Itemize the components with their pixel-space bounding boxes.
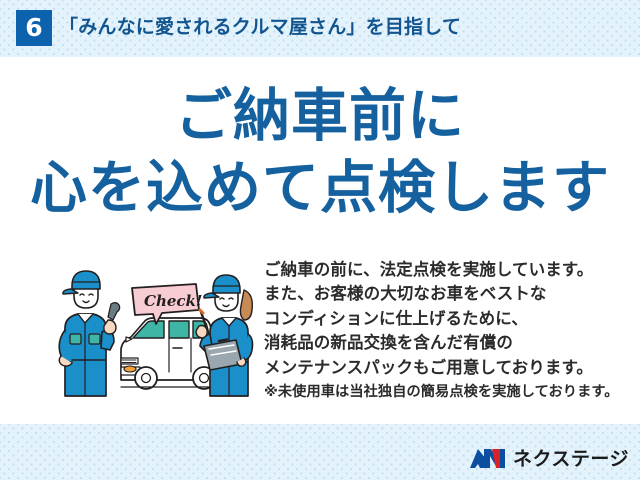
mechanic-male [59, 271, 119, 396]
speech-bubble-label: Check! [144, 292, 203, 310]
body-line-4: 消耗品の新品交換を含んだ有償の [264, 331, 630, 355]
section-number-badge: 6 [16, 10, 52, 46]
body-line-2: また、お客様の大切なお車をベストな [264, 282, 630, 306]
headline-line-1: ご納車前に [0, 80, 640, 152]
body-copy: ご納車の前に、法定点検を実施しています。 また、お客様の大切なお車をベストな コ… [264, 258, 630, 403]
brand-name: ネクステージ [513, 447, 629, 473]
promo-banner: 6 「みんなに愛されるクルマ屋さん」を目指して ご納車前に 心を込めて点検します [0, 0, 640, 480]
header-title: 「みんなに愛されるクルマ屋さん」を目指して [59, 15, 461, 41]
body-footnote: ※未使用車は当社独自の簡易点検を実施しております。 [264, 382, 630, 403]
body-line-3: コンディションに仕上げるために、 [264, 307, 630, 331]
nextage-n-mark-icon [470, 447, 506, 474]
headline-line-2: 心を込めて点検します [0, 152, 640, 224]
body-line-1: ご納車の前に、法定点検を実施しています。 [264, 258, 630, 282]
page-title: ご納車前に 心を込めて点検します [0, 80, 640, 224]
body-line-5: メンテナンスパックもご用意しております。 [264, 356, 630, 380]
brand-logo: ネクステージ [470, 447, 629, 473]
mechanics-van-illustration: Check! [58, 268, 258, 404]
